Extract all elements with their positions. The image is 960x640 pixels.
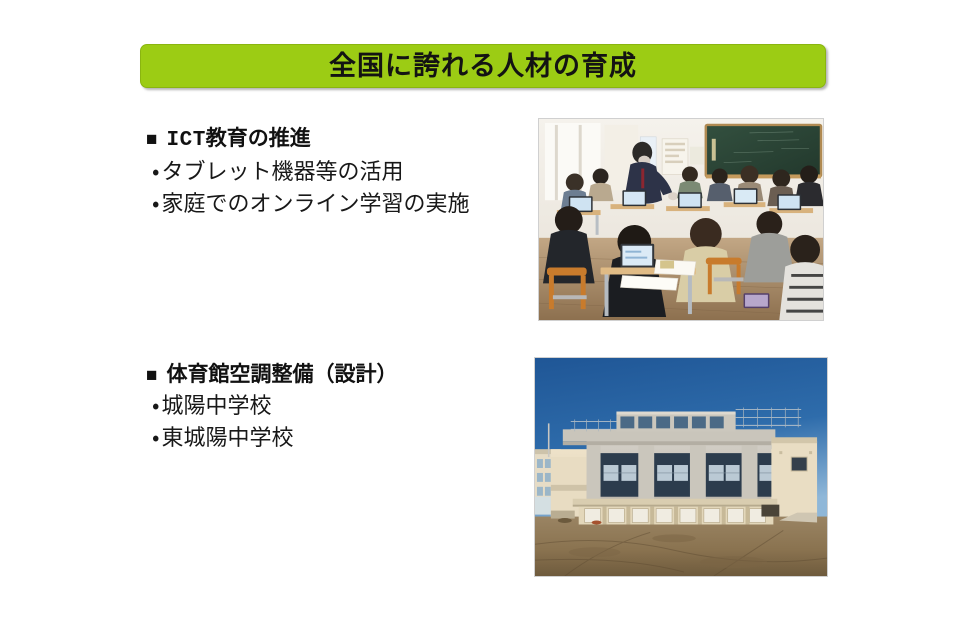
dot-bullet-icon: ・ (152, 159, 159, 184)
square-bullet-icon: ■ (146, 130, 157, 149)
section-gym-heading: ■ 体育館空調整備（設計） (146, 360, 397, 390)
list-item-label: 東城陽中学校 (161, 425, 293, 450)
dot-bullet-icon: ・ (152, 425, 159, 450)
list-item-label: 家庭でのオンライン学習の実施 (161, 191, 469, 216)
dot-bullet-icon: ・ (152, 393, 159, 418)
slide-title-banner: 全国に誇れる人材の育成 (140, 44, 826, 88)
section-gym: ■ 体育館空調整備（設計） ・城陽中学校 ・東城陽中学校 (146, 360, 397, 454)
section-ict-heading-mono: ICT (166, 126, 205, 156)
section-ict: ■ ICT 教育の推進 ・タブレット機器等の活用 ・家庭でのオンライン学習の実施 (146, 124, 470, 220)
section-ict-heading-text: 教育の推進 (206, 124, 311, 154)
page-title: 全国に誇れる人材の育成 (329, 53, 637, 80)
list-item: ・タブレット機器等の活用 (146, 156, 470, 188)
classroom-tablet-lesson-photo: 生徒がタブレットを使って授業を受けている教室の写真 (538, 118, 824, 321)
section-ict-heading: ■ ICT 教育の推進 (146, 124, 470, 156)
dot-bullet-icon: ・ (152, 191, 159, 216)
section-gym-heading-text: 体育館空調整備（設計） (166, 360, 397, 390)
slide-canvas: 全国に誇れる人材の育成 ■ ICT 教育の推進 ・タブレット機器等の活用 ・家庭… (0, 0, 960, 640)
list-item: ・家庭でのオンライン学習の実施 (146, 188, 470, 220)
list-item-label: タブレット機器等の活用 (161, 159, 403, 184)
list-item: ・城陽中学校 (146, 390, 397, 422)
square-bullet-icon: ■ (146, 366, 157, 385)
school-gymnasium-building-photo: 青空の下に建つ学校体育館の外観写真 (534, 357, 828, 577)
list-item: ・東城陽中学校 (146, 422, 397, 454)
list-item-label: 城陽中学校 (161, 393, 271, 418)
